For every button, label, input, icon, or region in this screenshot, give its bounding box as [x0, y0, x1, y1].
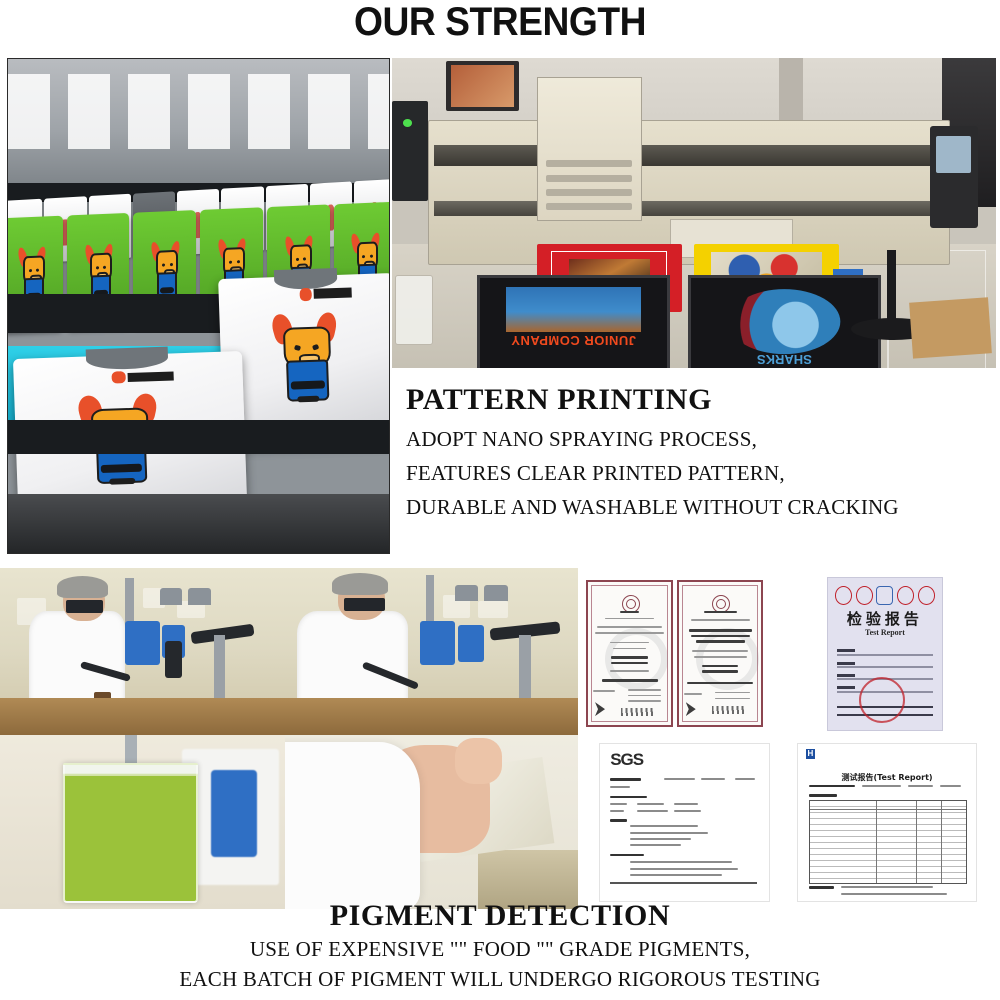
pigment-detection-text-block: PIGMENT DETECTION USE OF EXPENSIVE "" FO… [0, 898, 1000, 994]
ccc-logo-icon [835, 586, 852, 605]
photo-lab-technician-left [0, 568, 285, 735]
document-h-report: H 测试报告(Test Report) [797, 743, 976, 902]
blue-mixer-unit [458, 625, 484, 662]
shirt-black-sharks: SHARKS [688, 275, 881, 368]
panel-display [936, 136, 971, 173]
h-report-title: 测试报告(Test Report) [798, 772, 975, 783]
certification-logos [835, 587, 935, 604]
photo-green-pigment-beaker [0, 735, 285, 909]
photo-conveyor-printed-shirts [7, 58, 390, 554]
ce-logo-icon [897, 586, 914, 605]
power-led-icon [403, 119, 412, 127]
shirt-print-label: JUNIOR COMPANY [491, 334, 656, 347]
printer-control-panel[interactable] [930, 126, 978, 228]
photo-lab-technician-right [285, 568, 578, 735]
pigment-detection-line-2: EACH BATCH OF PIGMENT WILL UNDERGO RIGOR… [0, 964, 1000, 994]
certificate-iso-chinese [586, 580, 672, 727]
pigment-detection-line-1: USE OF EXPENSIVE "" FOOD "" GRADE PIGMEN… [0, 934, 1000, 964]
machine-base [8, 494, 389, 553]
photo-test-reports-row: SGS H [578, 736, 1000, 910]
page-title: OUR STRENGTH [35, 0, 965, 46]
test-results-table [809, 800, 967, 883]
technician-hair [57, 576, 108, 598]
shark-graphic-icon [728, 289, 840, 354]
cardboard-box [910, 297, 992, 358]
photo-certificates-row: 检验报告 Test Report [578, 570, 1000, 736]
lab-coat-sleeve [285, 742, 420, 909]
brand-bull-icon [111, 372, 125, 385]
cmas-logo-icon [876, 586, 893, 605]
white-bucket [395, 275, 433, 345]
print-artwork [506, 287, 641, 332]
shirt-black-junior-company: JUNIOR COMPANY [477, 275, 670, 368]
iso-logo-icon [918, 586, 935, 605]
factory-wall [8, 59, 389, 187]
safety-glasses-icon [344, 598, 385, 611]
safety-glasses-icon [66, 600, 103, 613]
printer-carriage-head [537, 77, 642, 222]
blue-mixer-unit [125, 621, 159, 664]
brand-wordmark [314, 288, 353, 299]
printer-tablet-screen [446, 61, 518, 111]
photo-flatbed-printer: JUNIOR COMPANY SHARKS [392, 58, 996, 368]
blue-equipment [211, 770, 257, 857]
conveyor-frame-low [8, 420, 389, 455]
pigment-beaker [63, 763, 198, 903]
shirt-print-label: SHARKS [702, 352, 867, 367]
photo-hand-sample [285, 735, 578, 909]
printer-control-box [392, 101, 428, 200]
printer-gantry-rail [434, 145, 941, 167]
certificate-test-report: 检验报告 Test Report [827, 577, 943, 732]
printer-lower-rail [434, 201, 941, 217]
h-logo-badge: H [806, 749, 816, 759]
sgs-logo: SGS [610, 750, 643, 770]
report-title-en: Test Report [828, 628, 942, 637]
certificate-iso-english [677, 580, 763, 727]
pattern-printing-heading: PATTERN PRINTING [392, 378, 996, 422]
bull-mascot-icon [272, 312, 338, 401]
brand-bull-icon [299, 288, 312, 302]
pattern-printing-line-2: FEATURES CLEAR PRINTED PATTERN, [392, 456, 996, 490]
blue-mixer-unit [420, 621, 455, 664]
official-red-stamp-icon [859, 677, 905, 723]
bull-mascot-icon [153, 240, 179, 300]
pattern-printing-text-block: PATTERN PRINTING ADOPT NANO SPRAYING PRO… [392, 378, 996, 524]
document-sgs-report: SGS [599, 743, 770, 902]
brand-wordmark [127, 372, 173, 382]
pattern-printing-line-3: DURABLE AND WASHABLE WITHOUT CRACKING [392, 490, 996, 524]
report-title-cn: 检验报告 [828, 608, 942, 629]
cqc-logo-icon [856, 586, 873, 605]
h-logo: H [806, 749, 816, 775]
technician-hair [332, 573, 388, 595]
pattern-printing-line-1: ADOPT NANO SPRAYING PROCESS, [392, 422, 996, 456]
promo-page: OUR STRENGTH [0, 0, 1000, 1000]
pigment-detection-heading: PIGMENT DETECTION [0, 898, 1000, 934]
